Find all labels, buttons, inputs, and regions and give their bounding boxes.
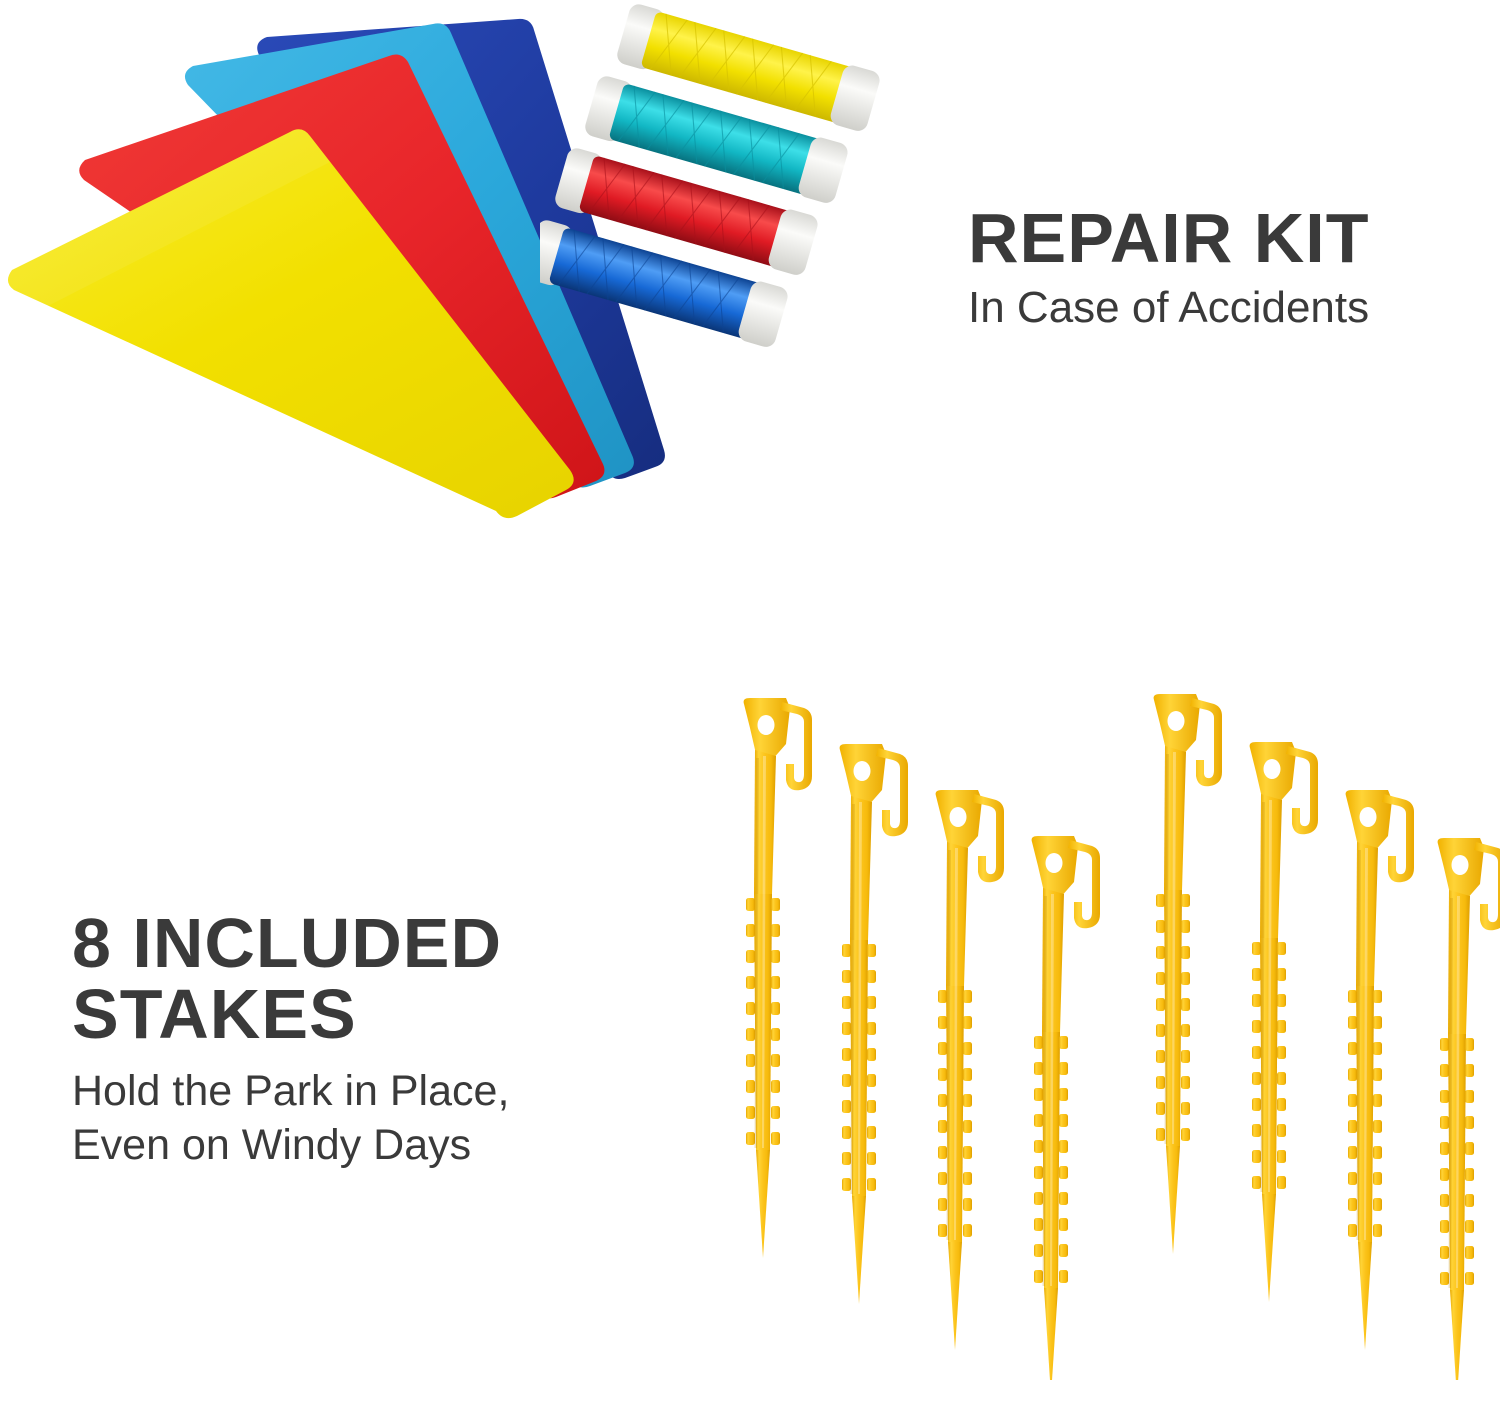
tent-stake-3 — [936, 790, 1004, 1350]
stakes-subtitle: Hold the Park in Place, Even on Windy Da… — [72, 1065, 692, 1173]
tent-stake-2 — [840, 744, 908, 1304]
repair-kit-text-block: REPAIR KIT In Case of Accidents — [968, 205, 1498, 334]
tent-stakes-illustration — [700, 680, 1500, 1380]
tent-stake-1 — [744, 698, 812, 1258]
tent-stakes-group — [700, 680, 1500, 1380]
stakes-title-line-1: 8 INCLUDED — [72, 908, 692, 979]
stake-group-left — [744, 698, 1100, 1380]
stakes-subtitle-line-1: Hold the Park in Place, — [72, 1065, 692, 1119]
stakes-text-block: 8 INCLUDED STAKES Hold the Park in Place… — [72, 908, 692, 1172]
tent-stake-7 — [1346, 790, 1414, 1350]
stakes-title: 8 INCLUDED STAKES — [72, 908, 692, 1051]
stakes-title-line-2: STAKES — [72, 979, 692, 1050]
tent-stake-4 — [1032, 836, 1100, 1380]
thread-spools-illustration — [540, 0, 940, 360]
tent-stake-5 — [1154, 694, 1222, 1254]
stake-group-right — [1154, 694, 1500, 1380]
repair-kit-title: REPAIR KIT — [968, 205, 1498, 272]
tent-stake-6 — [1250, 742, 1318, 1302]
repair-kit-subtitle: In Case of Accidents — [968, 282, 1498, 334]
thread-spools-group — [540, 0, 940, 360]
tent-stake-8 — [1438, 838, 1500, 1380]
stakes-subtitle-line-2: Even on Windy Days — [72, 1119, 692, 1173]
product-feature-image: REPAIR KIT In Case of Accidents 8 INCLUD… — [0, 0, 1500, 1418]
